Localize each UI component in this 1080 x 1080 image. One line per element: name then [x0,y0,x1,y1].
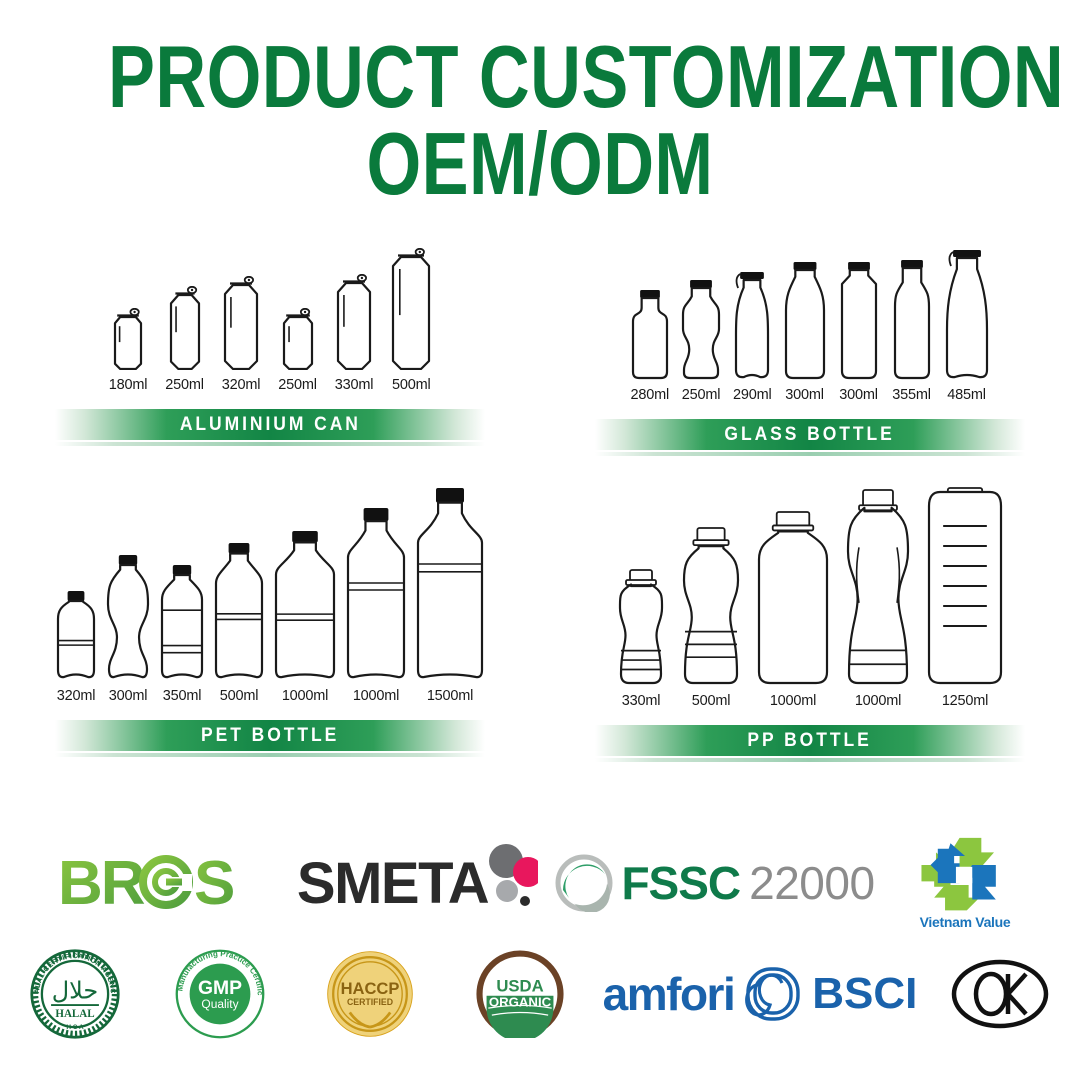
capacity-label: 330ml [622,693,661,709]
brcgs-icon: BR S [58,844,258,922]
product-item: 1500ml [415,486,485,704]
pp-illustration [680,526,742,686]
pet-illustration [105,553,151,681]
can-illustration [391,248,431,370]
product-item: 350ml [159,563,205,704]
items-pet-bottle: 320ml300ml350ml500ml1000ml1000ml1500ml [0,486,540,704]
pp-illustration [756,510,830,686]
can-shape-icon [113,308,143,370]
gmp-label: GMP [198,978,242,999]
capacity-label: 180ml [109,377,148,393]
banner-aluminium-can: ALUMINIUM CAN [0,409,540,446]
logo-usda-organic: USDA ORGANIC [445,950,595,1038]
banner-glass-bottle: GLASS BOTTLE [540,419,1080,456]
product-item: 330ml [335,274,374,393]
pet-bottle-shape-icon [415,486,485,681]
smeta-dots-icon [480,843,538,915]
glass-bottle-shape-icon [944,248,990,380]
capacity-label: 280ml [631,387,670,403]
haccp-sub: CERTIFIED [347,997,393,1007]
capacity-label: 300ml [109,688,148,704]
banner-bar: PET BOTTLE [55,720,485,751]
capacity-label: 1000ml [353,688,399,704]
logo-gmp: Good Manufacturing Practice Certificatio… [145,948,295,1040]
banner-underline [55,753,485,757]
pet-illustration [345,506,407,681]
pet-bottle-shape-icon [55,589,97,681]
usda-sub: ORGANIC [489,994,552,1009]
capacity-label: 250ml [682,387,721,403]
capacity-label: 1250ml [942,693,988,709]
capacity-label: 1000ml [855,693,901,709]
capacity-label: 355ml [892,387,931,403]
can-shape-icon [169,286,201,370]
glass-bottle-shape-icon [783,260,827,380]
capacity-label: 250ml [165,377,204,393]
capacity-label: 1000ml [282,688,328,704]
items-aluminium-can: 180ml250ml320ml250ml330ml500ml [0,248,540,393]
capacity-label: 290ml [733,387,772,403]
glass-bottle-shape-icon [680,278,722,380]
can-illustration [113,308,143,370]
bsci-label: BSCI [812,969,917,1019]
fssc-swirl-icon [555,854,613,912]
logo-halal: HALAL CERTIFICATION AGENCY حلال HALAL H … [5,948,145,1040]
can-illustration [169,286,201,370]
pp-bottle-shape-icon [756,510,830,686]
section-row-top: 180ml250ml320ml250ml330ml500ml ALUMINIUM… [0,248,1080,456]
glass-illustration [631,288,669,380]
halal-arabic: حلال [52,977,98,1005]
banner-label: PP BOTTLE [748,730,872,752]
product-item: 1000ml [844,488,912,709]
amfori-label: amfori [603,967,735,1021]
capacity-label: 500ml [392,377,431,393]
pet-illustration [213,541,265,681]
pp-illustration [844,488,912,686]
pet-bottle-shape-icon [105,553,151,681]
banner-bar: GLASS BOTTLE [595,419,1025,450]
page-title: PRODUCT CUSTOMIZATION OEM/ODM [0,0,1080,207]
logo-brcgs: BR S BRCGS [30,844,285,922]
glass-illustration [891,258,933,380]
logo-ok-kosher: OK [925,957,1075,1031]
product-item: 1000ml [273,529,337,704]
logo-vietnam-value: Vietnam Value [880,836,1050,930]
logo-fssc-22000: FSSC 22000 [550,854,880,912]
capacity-label: 500ml [220,688,259,704]
items-glass-bottle: 280ml250ml290ml300ml300ml355ml485ml [540,248,1080,403]
logo-amfori-bsci: amfori BSCI [595,963,925,1025]
haccp-seal-icon: HACCP CERTIFIED [324,948,416,1040]
glass-illustration [944,248,990,380]
glass-bottle-shape-icon [733,270,771,380]
banner-bar: PP BOTTLE [595,725,1025,756]
banner-pet-bottle: PET BOTTLE [0,720,540,757]
capacity-label: 300ml [785,387,824,403]
certification-row-2: HALAL CERTIFICATION AGENCY حلال HALAL H … [0,940,1080,1048]
certification-row-1: BR S BRCGS SMETA [0,828,1080,938]
glass-illustration [680,278,722,380]
fssc-number: 22000 [749,856,874,910]
banner-underline [595,758,1025,762]
pp-illustration [926,486,1004,686]
glass-illustration [733,270,771,380]
section-pet-bottle: 320ml300ml350ml500ml1000ml1000ml1500ml P… [0,486,540,762]
glass-bottle-shape-icon [631,288,669,380]
product-item: 250ml [278,308,317,393]
pet-illustration [55,589,97,681]
certification-logos: BR S BRCGS SMETA [0,828,1080,1048]
pp-bottle-shape-icon [616,568,666,686]
banner-label: GLASS BOTTLE [725,424,895,446]
product-item: 180ml [109,308,148,393]
product-item: 500ml [680,526,742,709]
halal-seal-icon: HALAL CERTIFICATION AGENCY حلال HALAL H … [29,948,121,1040]
product-sections: 180ml250ml320ml250ml330ml500ml ALUMINIUM… [0,248,1080,762]
product-item: 500ml [213,541,265,704]
capacity-label: 350ml [163,688,202,704]
capacity-label: 300ml [839,387,878,403]
product-item: 290ml [733,270,772,403]
can-shape-icon [336,274,372,370]
halal-label: HALAL [55,1008,94,1020]
capacity-label: 500ml [692,693,731,709]
section-glass-bottle: 280ml250ml290ml300ml300ml355ml485ml GLAS… [540,248,1080,456]
banner-bar: ALUMINIUM CAN [55,409,485,440]
can-illustration [282,308,314,370]
product-item: 1000ml [345,506,407,704]
haccp-label: HACCP [341,979,400,998]
pet-illustration [273,529,337,681]
pet-bottle-shape-icon [213,541,265,681]
smeta-label: SMETA [297,850,488,917]
banner-label: PET BOTTLE [201,725,339,747]
glass-illustration [838,260,880,380]
pp-bottle-shape-icon [926,486,1004,686]
logo-smeta: SMETA [285,843,550,923]
capacity-label: 330ml [335,377,374,393]
halal-sub: H C A [66,1024,84,1031]
ok-kosher-icon: OK [950,957,1050,1031]
product-item: 355ml [891,258,933,403]
svg-text:S: S [194,849,233,918]
product-item: 1250ml [926,486,1004,709]
pet-bottle-shape-icon [345,506,407,681]
product-item: 500ml [391,248,431,393]
pp-bottle-shape-icon [680,526,742,686]
can-shape-icon [282,308,314,370]
capacity-label: 1500ml [427,688,473,704]
vietnam-value-label: Vietnam Value [920,914,1011,930]
banner-underline [595,452,1025,456]
pp-bottle-shape-icon [844,488,912,686]
logo-haccp: HACCP CERTIFIED [295,948,445,1040]
banner-pp-bottle: PP BOTTLE [540,725,1080,762]
capacity-label: 250ml [278,377,317,393]
product-item: 320ml [222,276,261,393]
glass-illustration [783,260,827,380]
pet-bottle-shape-icon [273,529,337,681]
items-pp-bottle: 330ml500ml1000ml1000ml1250ml [540,486,1080,709]
can-shape-icon [391,248,431,370]
section-pp-bottle: 330ml500ml1000ml1000ml1250ml PP BOTTLE [540,486,1080,762]
usda-organic-icon: USDA ORGANIC [476,950,564,1038]
capacity-label: 1000ml [770,693,816,709]
capacity-label: 485ml [947,387,986,403]
banner-underline [55,442,485,446]
banner-label: ALUMINIUM CAN [179,414,360,436]
product-item: 250ml [165,286,204,393]
product-item: 300ml [783,260,827,403]
gmp-seal-icon: Good Manufacturing Practice Certificatio… [174,948,266,1040]
svg-text:BR: BR [58,849,145,918]
product-item: 250ml [680,278,722,403]
capacity-label: 320ml [222,377,261,393]
pet-illustration [159,563,205,681]
product-item: 300ml [838,260,880,403]
vietnam-value-pinwheel-icon [917,836,1013,914]
section-row-bottom: 320ml300ml350ml500ml1000ml1000ml1500ml P… [0,486,1080,762]
gmp-sub: Quality [201,997,238,1011]
product-item: 280ml [631,288,670,403]
glass-bottle-shape-icon [891,258,933,380]
product-item: 485ml [944,248,990,403]
product-item: 320ml [55,589,97,704]
product-item: 330ml [616,568,666,709]
capacity-label: 320ml [57,688,96,704]
product-item: 300ml [105,553,151,704]
amfori-spiral-icon [742,963,804,1025]
can-shape-icon [223,276,259,370]
can-illustration [223,276,259,370]
pet-illustration [415,486,485,681]
fssc-label: FSSC [621,856,740,910]
pp-illustration [616,568,666,686]
title-line-1: PRODUCT CUSTOMIZATION [108,34,972,119]
section-aluminium-can: 180ml250ml320ml250ml330ml500ml ALUMINIUM… [0,248,540,456]
title-line-2: OEM/ODM [108,121,972,206]
product-item: 1000ml [756,510,830,709]
glass-bottle-shape-icon [838,260,880,380]
can-illustration [336,274,372,370]
usda-label: USDA [496,976,543,995]
pet-bottle-shape-icon [159,563,205,681]
